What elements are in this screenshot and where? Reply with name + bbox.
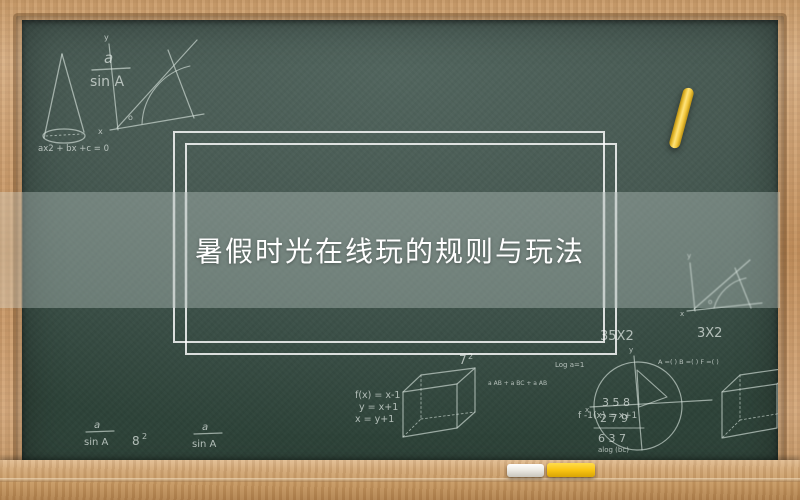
chalkboard-poster: a sin A ax2 + bx +c = 0 y x o (0, 0, 800, 500)
yellow-chalk-icon (547, 463, 595, 477)
page-title: 暑假时光在线玩的规则与玩法 (0, 192, 780, 308)
white-chalk-icon (507, 464, 544, 477)
chalk-ledge-lip (0, 478, 800, 482)
